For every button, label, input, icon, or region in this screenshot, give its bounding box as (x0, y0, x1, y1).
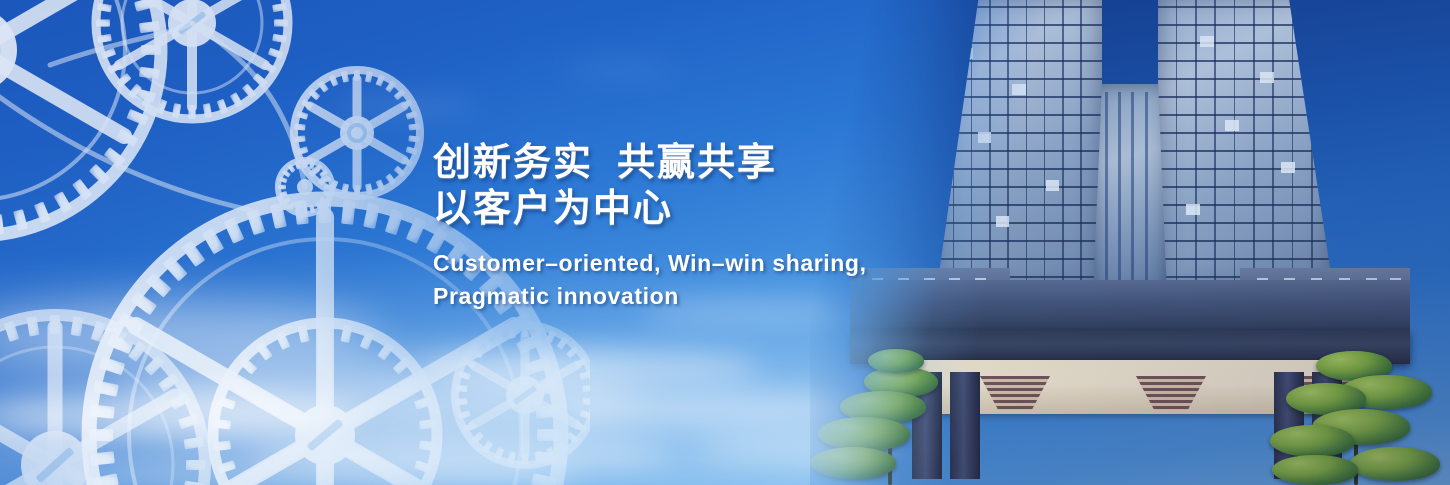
corporate-hero-banner: 创新务实共赢共享 以客户为中心 Customer–oriented, Win–w… (0, 0, 1450, 485)
headline-cn-part1: 创新务实 (433, 142, 593, 184)
subtitle-line-2: Pragmatic innovation (433, 280, 973, 314)
topiary-right (1260, 320, 1450, 485)
window-grid-right (1158, 0, 1334, 294)
topiary-left (810, 335, 980, 485)
banner-copy: 创新务实共赢共享 以客户为中心 Customer–oriented, Win–w… (433, 140, 973, 314)
headline-cn-line2: 以客户为中心 (433, 186, 973, 232)
headline-cn-part2: 共赢共享 (617, 142, 777, 184)
shell-light-fixture (980, 376, 1050, 410)
subtitle-line-1: Customer–oriented, Win–win sharing, (433, 247, 973, 281)
tower-center-core (1093, 84, 1167, 296)
tower-wing-right (1158, 0, 1334, 294)
shell-light-fixture (1136, 376, 1206, 410)
headline-cn-line1: 创新务实共赢共享 (433, 140, 973, 186)
subtitle-block: Customer–oriented, Win–win sharing, Prag… (433, 247, 973, 314)
core-mullions (1093, 84, 1167, 296)
